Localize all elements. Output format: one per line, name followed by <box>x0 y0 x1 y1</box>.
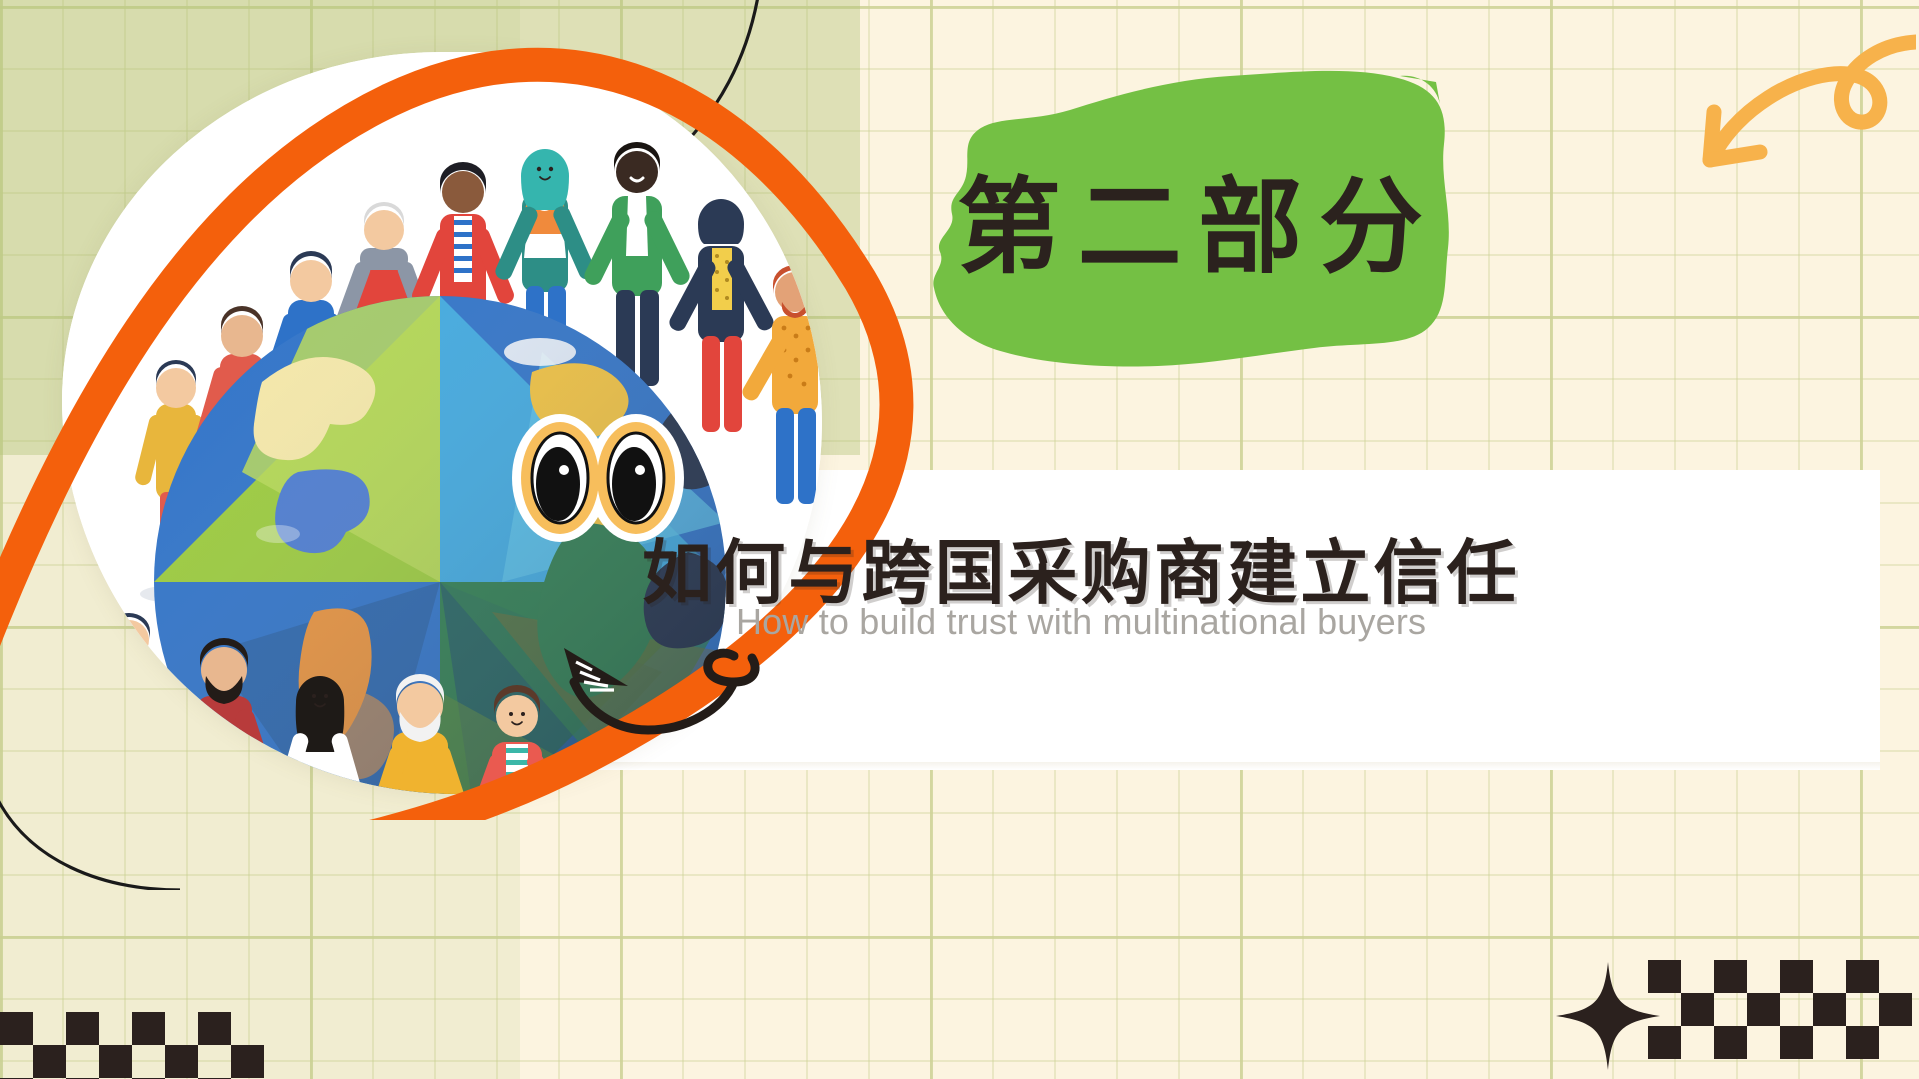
googly-eyes-icon <box>508 412 688 544</box>
curly-arrow-icon <box>1648 28 1916 193</box>
section-badge-label: 第二部分 <box>900 52 1480 382</box>
checkerboard-bottom-right <box>1648 960 1912 1059</box>
section-badge: 第二部分 <box>900 52 1480 382</box>
slide-canvas: 第二部分 如何与跨国采购商建立信任 How to build trust wit… <box>0 0 1919 1079</box>
checkerboard-bottom-left <box>0 1012 264 1079</box>
sparkle-star-icon <box>1556 962 1660 1070</box>
doodle-arrow-icon <box>556 638 768 743</box>
page-subtitle-en: How to build trust with multinational bu… <box>736 600 1896 644</box>
